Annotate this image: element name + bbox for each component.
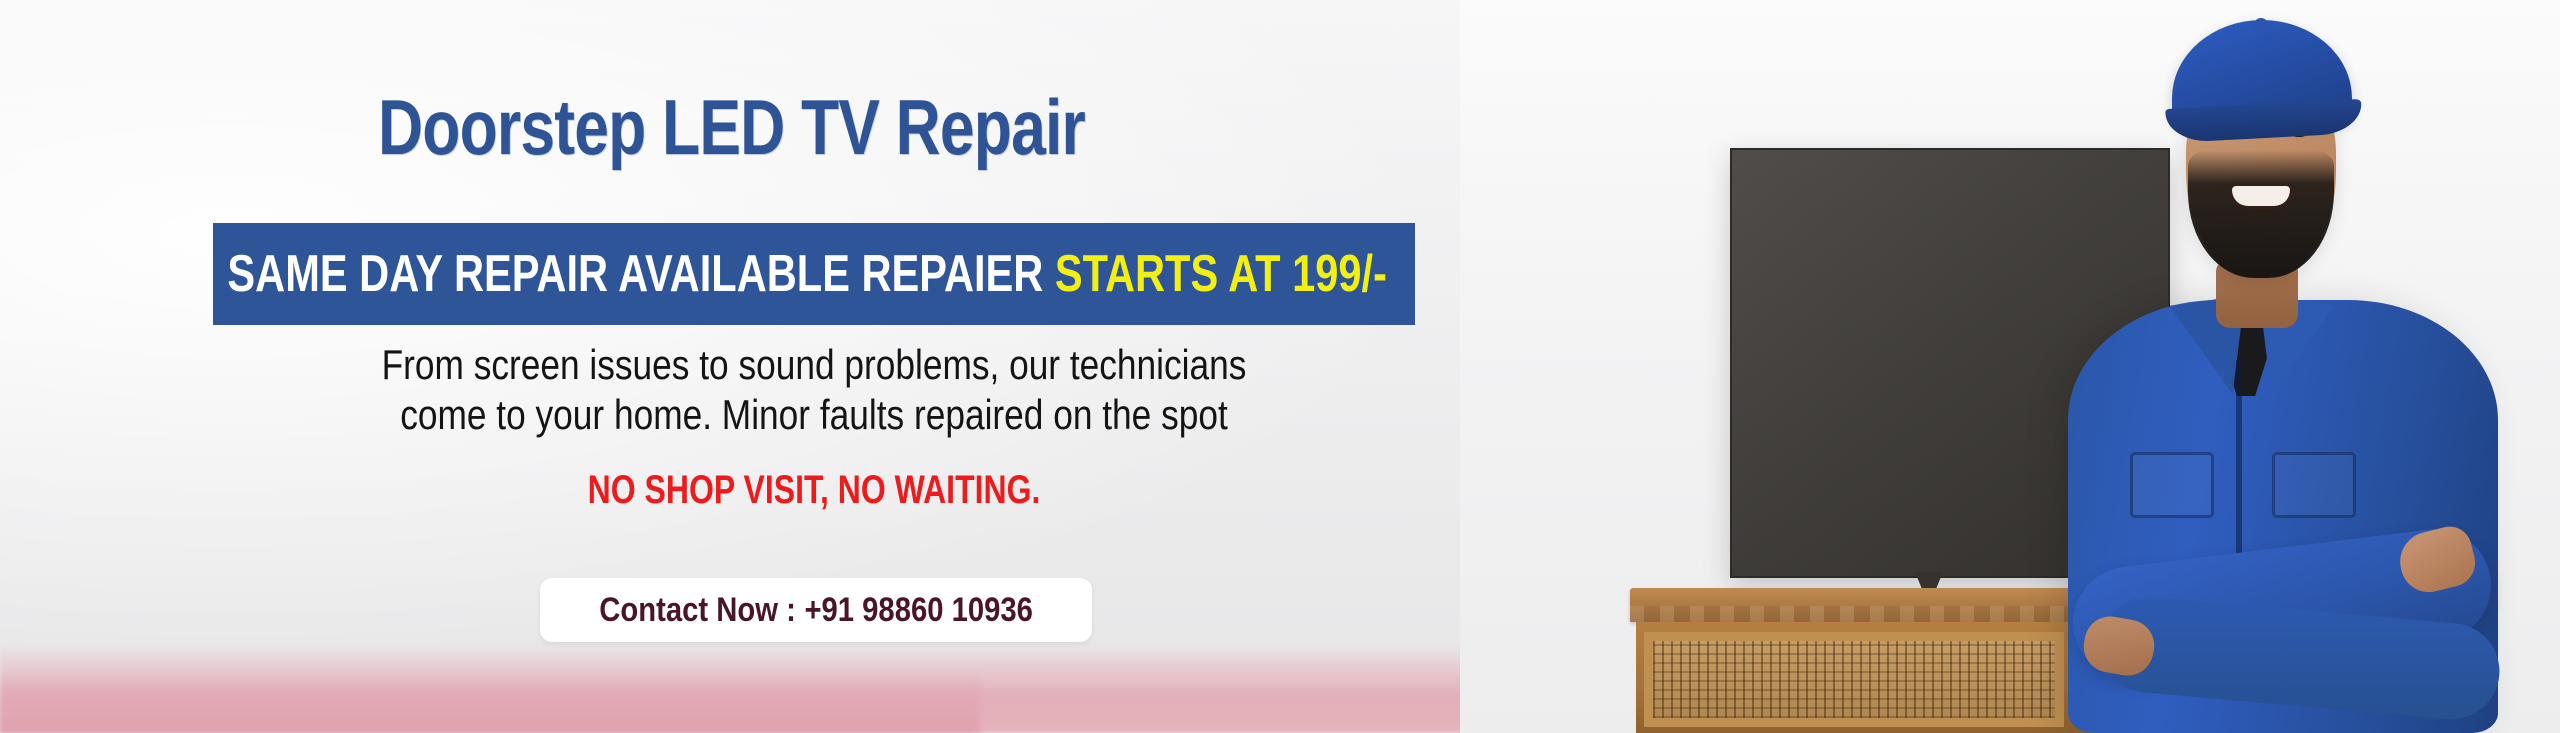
copy-column: Doorstep LED TV Repair SAME DAY REPAIR A… [0, 0, 1520, 733]
offer-badge-accent: STARTS AT 199/- [1055, 245, 1387, 303]
contact-button-text: Contact Now :+91 98860 10936 [599, 593, 1033, 627]
technician-pocket-right [2272, 452, 2356, 518]
contact-button[interactable]: Contact Now :+91 98860 10936 [540, 578, 1092, 642]
offer-badge-main: SAME DAY REPAIR AVAILABLE REPAIER [227, 245, 1043, 303]
page-title: Doorstep LED TV Repair [378, 88, 1085, 166]
technician-cap-button [2254, 18, 2268, 32]
body-paragraph-line-2: come to your home. Minor faults repaired… [309, 390, 1319, 440]
contact-phone-number: +91 98860 10936 [804, 591, 1032, 629]
contact-label: Contact Now : [599, 591, 796, 629]
offer-badge-text: SAME DAY REPAIR AVAILABLE REPAIER STARTS… [213, 248, 1387, 300]
hero-scene [1460, 0, 2560, 733]
body-paragraph: From screen issues to sound problems, ou… [213, 340, 1415, 439]
body-paragraph-line-1: From screen issues to sound problems, ou… [309, 340, 1319, 390]
technician-figure [1980, 0, 2560, 733]
alert-text: NO SHOP VISIT, NO WAITING. [213, 470, 1415, 510]
technician-smile [2232, 186, 2290, 206]
technician-pocket-left [2130, 452, 2214, 518]
alert-text-value: NO SHOP VISIT, NO WAITING. [588, 470, 1041, 510]
technician-beard [2188, 150, 2334, 278]
promo-banner: Doorstep LED TV Repair SAME DAY REPAIR A… [0, 0, 2560, 733]
offer-badge: SAME DAY REPAIR AVAILABLE REPAIER STARTS… [213, 223, 1415, 325]
